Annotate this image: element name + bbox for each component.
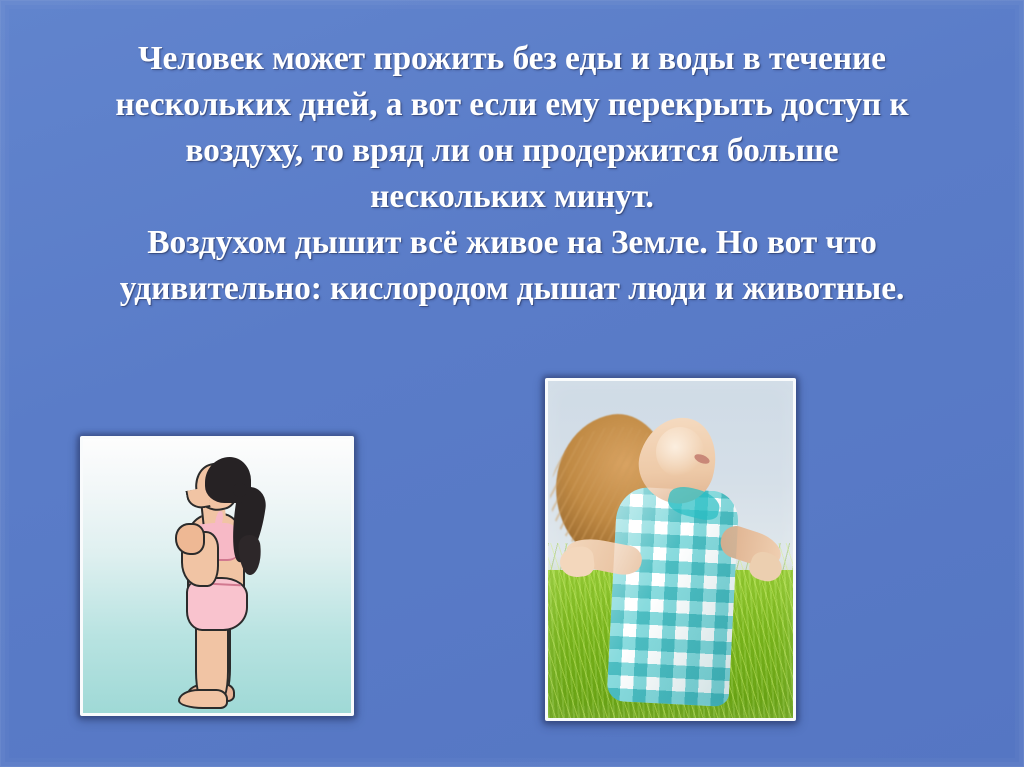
text-line-3: воздуху, то вряд ли он продержится больш… [0,128,1024,174]
figure-front-foot [178,689,228,709]
text-line-1: Человек может прожить без еды и воды в т… [0,36,1024,82]
paragraph-2: Воздухом дышит всё живое на Земле. Но во… [0,220,1024,312]
slide-canvas: Человек может прожить без еды и воды в т… [0,0,1024,767]
yoga-breathing-illustration [80,436,354,716]
photo-sky-background [548,381,793,718]
figure-hair-tie [233,483,247,497]
slide-text-block: Человек может прожить без еды и воды в т… [0,36,1024,312]
photo-soft-overlay [548,381,793,718]
figure-hair [205,457,251,503]
paragraph-1: Человек может прожить без еды и воды в т… [0,36,1024,220]
figure-hands-prayer [175,523,205,555]
girl-breathing-photo [545,378,796,721]
text-line-5: Воздухом дышит всё живое на Земле. Но во… [0,220,1024,266]
text-line-6: удивительно: кислородом дышат люди и жив… [0,266,1024,312]
text-line-4: нескольких минут. [0,174,1024,220]
yoga-illustration-background [83,439,351,713]
text-line-2: нескольких дней, а вот если ему перекрыт… [0,82,1024,128]
